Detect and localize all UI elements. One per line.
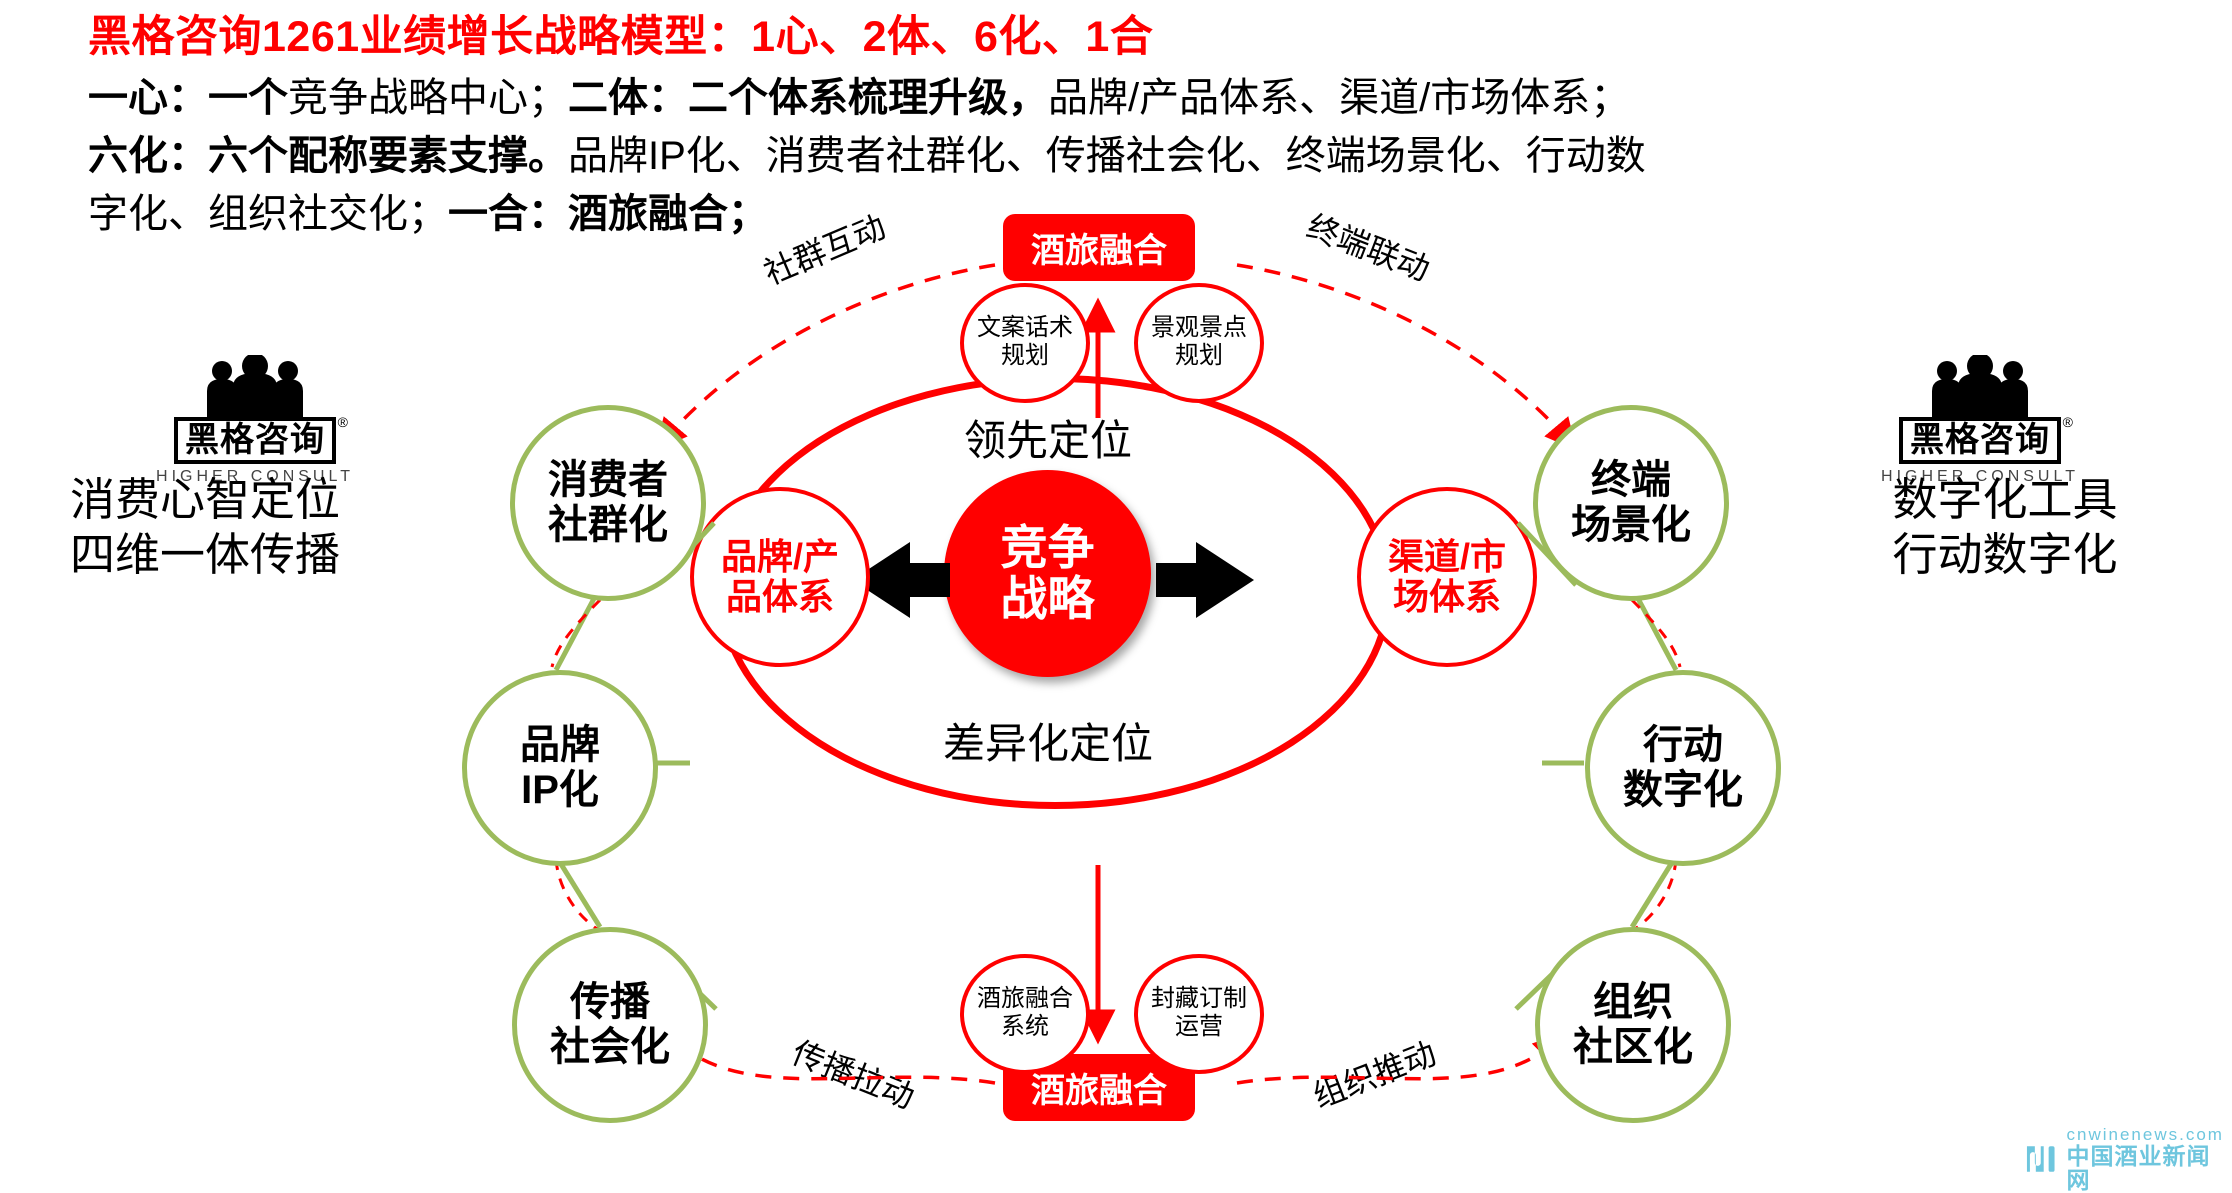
header-l3-bold: 六化：六个配称要素支撑。: [88, 134, 568, 178]
satellite-node-terminal-scene[interactable]: 终端场景化: [1533, 405, 1729, 601]
header-l2-bold-a: 一心：一个: [88, 76, 288, 120]
satellite-node-brand-ip[interactable]: 品牌IP化: [462, 670, 658, 866]
satellite-node-action-digital[interactable]: 行动数字化: [1585, 670, 1781, 866]
satellite-node-org-community[interactable]: 组织社区化: [1535, 927, 1731, 1123]
dashed-arcs: [660, 265, 1572, 1083]
dashed-arc-bottom-left: [672, 1037, 995, 1083]
header-line-3: 六化：六个配称要素支撑。品牌IP化、消费者社群化、传播社会化、终端场景化、行动数: [88, 136, 1646, 176]
mini-node-wine-travel-system[interactable]: 酒旅融合系统: [960, 954, 1090, 1074]
header-l3-norm: 品牌IP化、消费者社群化、传播社会化、终端场景化、行动数: [568, 134, 1646, 178]
page-title: 黑格咨询1261业绩增长战略模型：1心、2体、6化、1合: [88, 16, 1153, 59]
dashed-arc-top-left: [660, 265, 995, 445]
dashed-arc-bottom-right: [1237, 1037, 1560, 1083]
diagram-stage: 黑格咨询 ® HIGHER CONSULT 消费心智定位四维一体传播 黑格咨询 …: [0, 255, 2232, 1189]
header-text-block: 黑格咨询1261业绩增长战略模型：1心、2体、6化、1合 一心：一个竞争战略中心…: [0, 0, 2232, 210]
green-link-7: [556, 856, 600, 927]
header-line-4: 字化、组织社交化；一合：酒旅融合；: [88, 194, 768, 234]
header-l2-bold-b: 二体：二个体系梳理升级，: [568, 76, 1048, 120]
mini-node-scenic-spot-plan[interactable]: 景观景点规划: [1134, 283, 1264, 403]
green-link-8: [1634, 591, 1676, 670]
pill-wine-travel-top[interactable]: 酒旅融合: [1003, 214, 1195, 281]
header-l2-norm-b: 品牌/产品体系、渠道/市场体系；: [1048, 76, 1630, 120]
header-l4-bold: 一合：酒旅融合；: [448, 192, 768, 236]
green-link-6: [556, 591, 598, 670]
header-line-2: 一心：一个竞争战略中心；二体：二个体系梳理升级，品牌/产品体系、渠道/市场体系；: [88, 78, 1630, 118]
header-l4-norm: 字化、组织社交化；: [88, 192, 448, 236]
green-link-9: [1632, 856, 1676, 927]
red-dashed-vertical: [552, 600, 1680, 931]
dashed-arc-top-right: [1237, 265, 1572, 445]
satellite-node-consumer-community[interactable]: 消费者社群化: [510, 405, 706, 601]
header-l2-norm-a: 竞争战略中心；: [288, 76, 568, 120]
mini-node-sealed-custom-ops[interactable]: 封藏订制运营: [1134, 954, 1264, 1074]
mini-node-copy-script-plan[interactable]: 文案话术规划: [960, 283, 1090, 403]
satellite-node-comm-social[interactable]: 传播社会化: [512, 927, 708, 1123]
connector-layer: [0, 255, 2232, 1189]
green-links: [556, 523, 1676, 1009]
